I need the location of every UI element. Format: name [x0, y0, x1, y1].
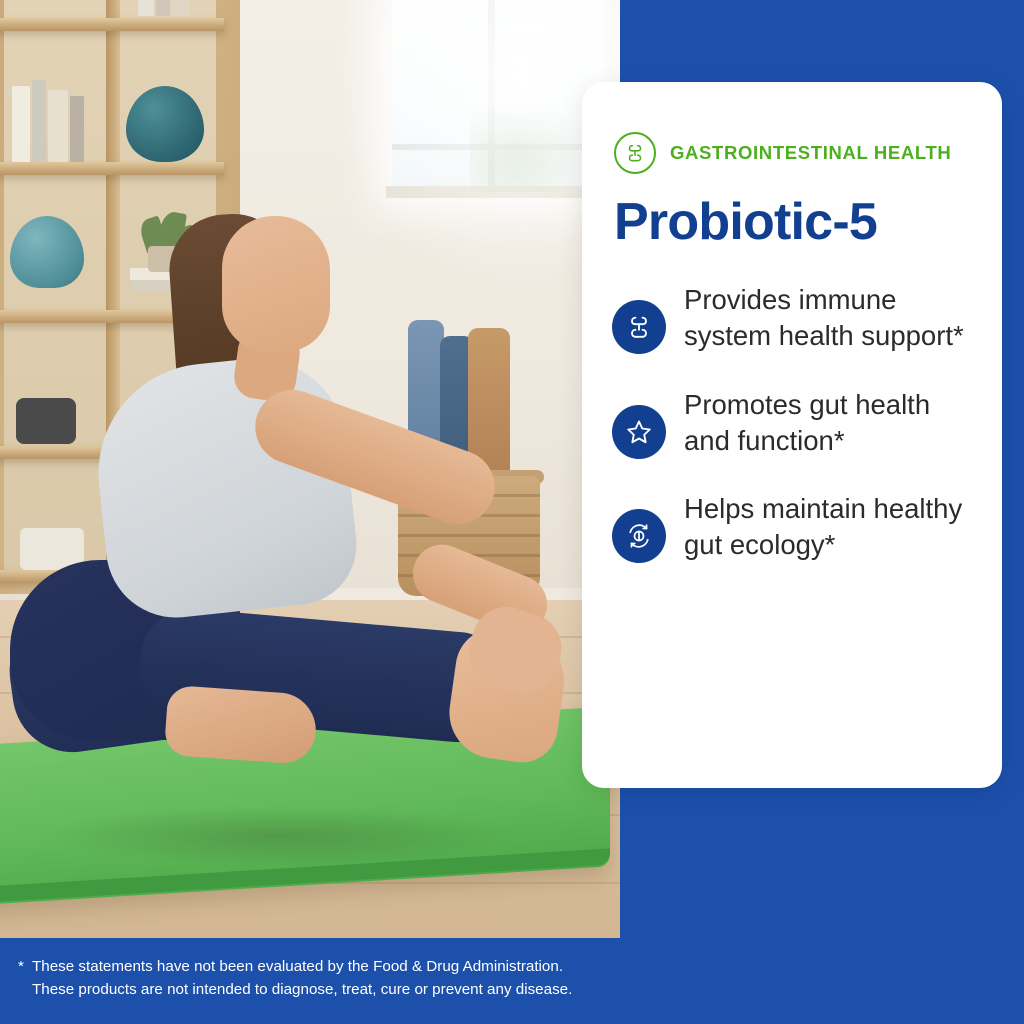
book: [70, 96, 84, 162]
window-light-glow: [330, 0, 620, 290]
book: [172, 0, 190, 16]
category-eyebrow: GASTROINTESTINAL HEALTH: [614, 132, 951, 174]
intestine-icon: [614, 132, 656, 174]
promo-image: GASTROINTESTINAL HEALTH Probiotic-5 P: [0, 0, 1024, 1024]
disclaimer-line-1: These statements have not been evaluated…: [32, 958, 563, 975]
lifestyle-photo: [0, 0, 620, 938]
book: [156, 0, 170, 16]
category-label: GASTROINTESTINAL HEALTH: [670, 142, 951, 164]
book: [48, 90, 68, 162]
benefit-text: Provides immune system health support*: [684, 282, 978, 355]
intestine-icon: [612, 300, 666, 354]
disclaimer-line-2: These products are not intended to diagn…: [32, 981, 572, 998]
benefit-item: Promotes gut health and function*: [612, 387, 978, 460]
body-shadow: [40, 806, 520, 866]
benefit-text: Helps maintain healthy gut ecology*: [684, 491, 978, 564]
disclaimer: *These statements have not been evaluate…: [18, 955, 718, 1002]
benefit-item: Helps maintain healthy gut ecology*: [612, 491, 978, 564]
product-card: GASTROINTESTINAL HEALTH Probiotic-5 P: [582, 82, 1002, 788]
page-title: Probiotic-5: [614, 192, 877, 252]
book: [12, 86, 30, 162]
benefit-text: Promotes gut health and function*: [684, 387, 978, 460]
decor-object: [16, 398, 76, 444]
book: [32, 80, 46, 162]
star-icon: [612, 405, 666, 459]
benefits-list: Provides immune system health support* P…: [612, 282, 978, 596]
gut-ecology-icon: [612, 509, 666, 563]
disclaimer-marker: *: [18, 955, 32, 979]
book: [138, 0, 154, 16]
benefit-item: Provides immune system health support*: [612, 282, 978, 355]
bookshelf-board: [0, 18, 224, 31]
bookshelf-board: [0, 162, 224, 175]
person-bent-foot: [164, 685, 319, 765]
person-head: [222, 216, 330, 352]
